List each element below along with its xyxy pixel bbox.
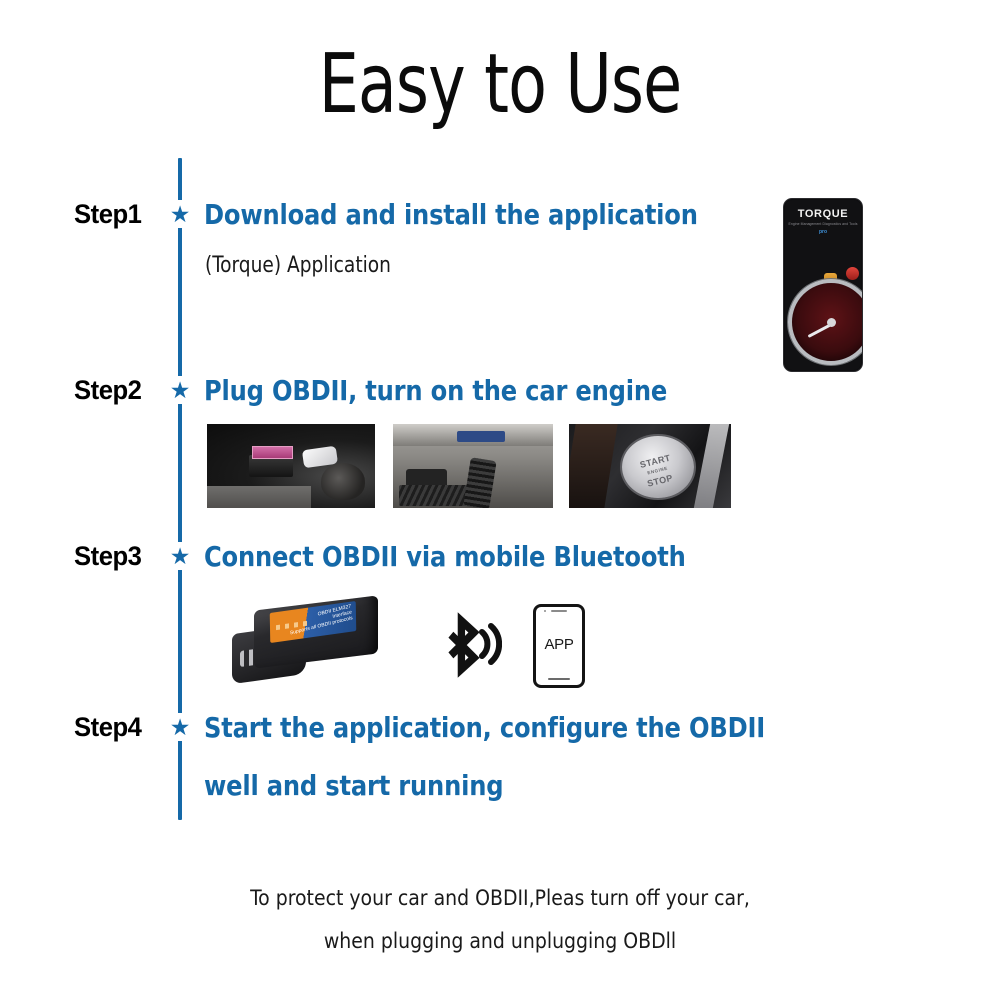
phone-speaker-notch <box>551 610 567 612</box>
torque-brand-label: TORQUE <box>784 208 862 220</box>
star-icon: ★ <box>166 376 194 404</box>
footer-note-line1: To protect your car and OBDII,Pleas turn… <box>0 886 1000 910</box>
footer-note-line2: when plugging and unplugging OBDll <box>0 929 1000 953</box>
step-headline-4: Start the application, configure the OBD… <box>204 711 765 744</box>
obd-label-text: OBDII ELM327 Interface Supports all OBDI… <box>288 603 353 636</box>
star-icon: ★ <box>166 200 194 228</box>
torque-app-screenshot: TORQUE Engine Management Diagnostics and… <box>783 198 863 372</box>
torque-edition-label: pro <box>784 229 862 235</box>
gauge-hub <box>827 318 836 327</box>
phone-app-screen-text: APP <box>536 636 582 653</box>
torque-tagline: Engine Management Diagnostics and Tools <box>784 222 862 226</box>
step-headline-3: Connect OBDII via mobile Bluetooth <box>204 540 686 573</box>
step-headline-1: Download and install the application <box>204 198 698 231</box>
phone-home-bar <box>548 678 570 680</box>
torque-gauge <box>788 279 863 365</box>
phone-camera-dot <box>544 610 546 612</box>
step-headline-4-line2: well and start running <box>204 769 503 802</box>
car-pedals-photo <box>393 424 553 508</box>
star-icon: ★ <box>166 542 194 570</box>
step-label-3: Step3 <box>74 541 165 572</box>
step-label-4: Step4 <box>74 712 165 743</box>
photo-floor <box>207 486 311 508</box>
start-stop-button: START ENGINE STOP <box>622 436 693 498</box>
step-subtext-1: (Torque) Application <box>205 253 391 278</box>
star-icon: ★ <box>166 713 194 741</box>
floor-mat <box>399 485 473 507</box>
obd-dongle-image: OBDII ELM327 Interface Supports all OBDI… <box>232 601 380 685</box>
start-stop-button-text: START ENGINE STOP <box>620 448 696 494</box>
obd-connector-pink <box>252 446 293 459</box>
page-title: Easy to Use <box>70 44 930 126</box>
steering-column-knob <box>321 463 365 500</box>
step-label-1: Step1 <box>74 199 165 230</box>
obd-port-photo <box>207 424 375 508</box>
torque-temp-icon <box>846 267 859 280</box>
phone-app-illustration: APP <box>533 604 585 688</box>
step-headline-2: Plug OBDII, turn on the car engine <box>204 374 667 407</box>
start-stop-button-photo: START ENGINE STOP <box>569 424 731 508</box>
bluetooth-icon <box>432 606 502 678</box>
blue-trim <box>457 431 505 443</box>
step-label-2: Step2 <box>74 375 165 406</box>
